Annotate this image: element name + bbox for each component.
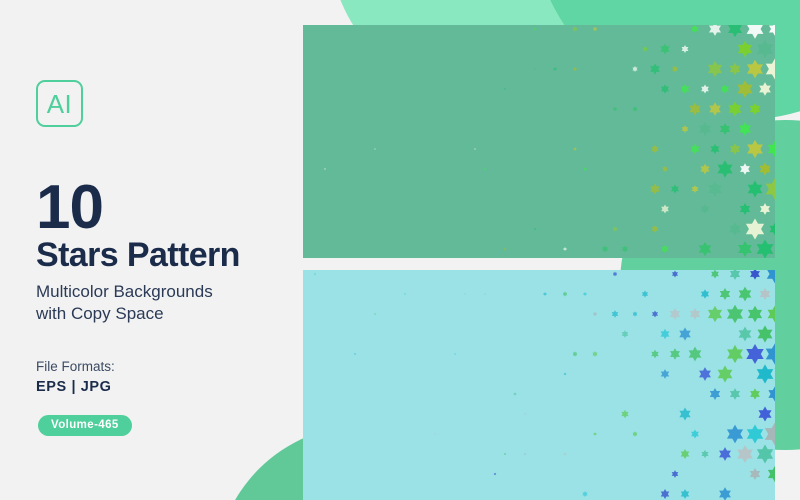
page-subtitle: Multicolor Backgrounds with Copy Space — [36, 281, 296, 325]
promo-graphic-canvas: AI 10 Stars Pattern Multicolor Backgroun… — [0, 0, 800, 500]
adobe-illustrator-badge-label: AI — [47, 91, 73, 117]
file-formats-value: EPS | JPG — [36, 379, 296, 395]
adobe-illustrator-badge: AI — [36, 80, 83, 127]
green-star-pattern-canvas — [303, 25, 775, 258]
blue-star-pattern-canvas — [303, 270, 775, 500]
page-subtitle-line-2: with Copy Space — [36, 303, 296, 325]
blue-star-pattern-preview — [303, 270, 775, 500]
info-column: AI 10 Stars Pattern Multicolor Backgroun… — [36, 80, 296, 395]
page-title: Stars Pattern — [36, 238, 296, 273]
file-formats-label: File Formats: — [36, 359, 296, 374]
green-star-pattern-preview — [303, 25, 775, 258]
item-count: 10 — [36, 179, 296, 236]
volume-badge: Volume-465 — [38, 415, 132, 436]
page-subtitle-line-1: Multicolor Backgrounds — [36, 281, 296, 303]
